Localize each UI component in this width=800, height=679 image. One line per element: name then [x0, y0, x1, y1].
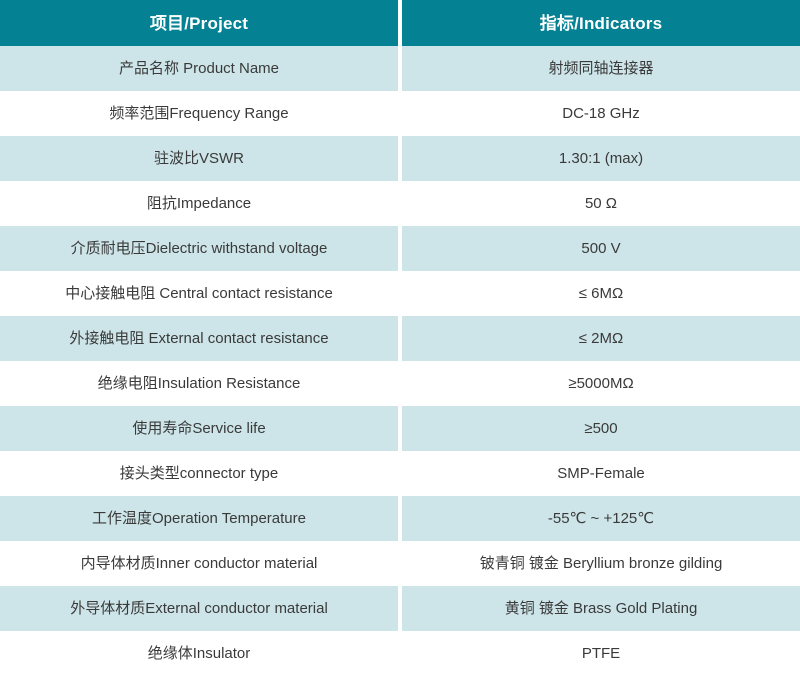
- table-row: 外导体材质External conductor material 黄铜 镀金 B…: [0, 586, 800, 631]
- cell-project: 驻波比VSWR: [0, 136, 398, 181]
- cell-project: 外导体材质External conductor material: [0, 586, 398, 631]
- table-row: 使用寿命Service life ≥500: [0, 406, 800, 451]
- table-row: 绝缘体Insulator PTFE: [0, 631, 800, 676]
- cell-project: 频率范围Frequency Range: [0, 91, 398, 136]
- table-row: 内导体材质Inner conductor material 铍青铜 镀金 Ber…: [0, 541, 800, 586]
- specification-table: 项目/Project 指标/Indicators 产品名称 Product Na…: [0, 0, 800, 676]
- table-row: 频率范围Frequency Range DC-18 GHz: [0, 91, 800, 136]
- cell-indicator: 铍青铜 镀金 Beryllium bronze gilding: [402, 541, 800, 586]
- table-header-row: 项目/Project 指标/Indicators: [0, 0, 800, 46]
- cell-indicator: ≥5000MΩ: [402, 361, 800, 406]
- cell-project: 外接触电阻 External contact resistance: [0, 316, 398, 361]
- cell-indicator: PTFE: [402, 631, 800, 676]
- table-row: 中心接触电阻 Central contact resistance ≤ 6MΩ: [0, 271, 800, 316]
- cell-project: 接头类型connector type: [0, 451, 398, 496]
- cell-indicator: ≤ 2MΩ: [402, 316, 800, 361]
- cell-project: 工作温度Operation Temperature: [0, 496, 398, 541]
- cell-project: 使用寿命Service life: [0, 406, 398, 451]
- cell-indicator: 50 Ω: [402, 181, 800, 226]
- cell-indicator: 1.30:1 (max): [402, 136, 800, 181]
- cell-indicator: -55℃ ~ +125℃: [402, 496, 800, 541]
- cell-project: 阻抗Impedance: [0, 181, 398, 226]
- table-row: 接头类型connector type SMP-Female: [0, 451, 800, 496]
- table-row: 驻波比VSWR 1.30:1 (max): [0, 136, 800, 181]
- column-header-indicators: 指标/Indicators: [402, 0, 800, 46]
- cell-indicator: 黄铜 镀金 Brass Gold Plating: [402, 586, 800, 631]
- cell-indicator: ≤ 6MΩ: [402, 271, 800, 316]
- table-row: 阻抗Impedance 50 Ω: [0, 181, 800, 226]
- table-row: 工作温度Operation Temperature -55℃ ~ +125℃: [0, 496, 800, 541]
- table-row: 产品名称 Product Name 射频同轴连接器: [0, 46, 800, 91]
- cell-indicator: DC-18 GHz: [402, 91, 800, 136]
- column-header-project: 项目/Project: [0, 0, 398, 46]
- table-row: 介质耐电压Dielectric withstand voltage 500 V: [0, 226, 800, 271]
- cell-indicator: 500 V: [402, 226, 800, 271]
- cell-project: 产品名称 Product Name: [0, 46, 398, 91]
- cell-project: 内导体材质Inner conductor material: [0, 541, 398, 586]
- table-row: 绝缘电阻Insulation Resistance ≥5000MΩ: [0, 361, 800, 406]
- cell-project: 中心接触电阻 Central contact resistance: [0, 271, 398, 316]
- cell-project: 绝缘电阻Insulation Resistance: [0, 361, 398, 406]
- cell-indicator: ≥500: [402, 406, 800, 451]
- cell-project: 绝缘体Insulator: [0, 631, 398, 676]
- cell-project: 介质耐电压Dielectric withstand voltage: [0, 226, 398, 271]
- cell-indicator: 射频同轴连接器: [402, 46, 800, 91]
- cell-indicator: SMP-Female: [402, 451, 800, 496]
- table-row: 外接触电阻 External contact resistance ≤ 2MΩ: [0, 316, 800, 361]
